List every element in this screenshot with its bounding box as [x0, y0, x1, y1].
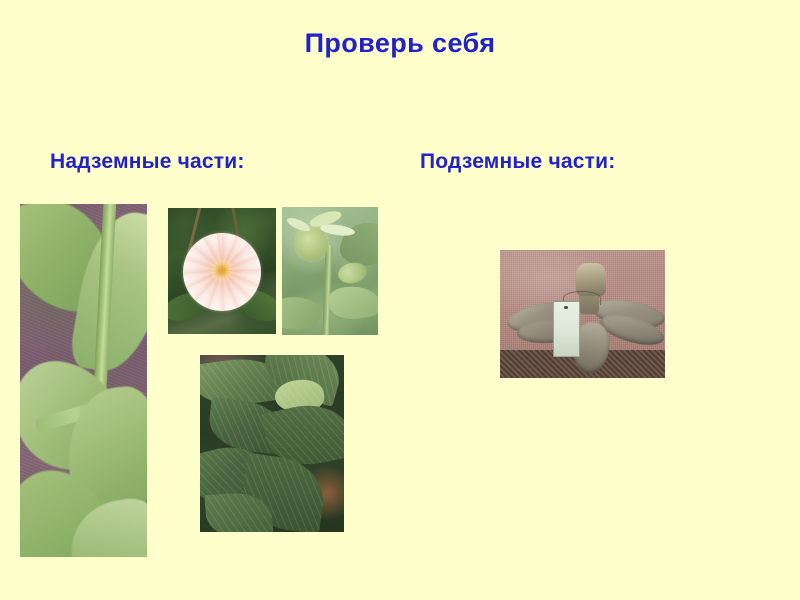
- photo-dahlia-flower: [168, 208, 276, 334]
- photo-dahlia-stem: [20, 204, 147, 557]
- flower-bud: [295, 227, 328, 260]
- column-heading-above-ground: Надземные части:: [50, 150, 245, 174]
- column-heading-below-ground: Подземные части:: [420, 150, 615, 174]
- slide-canvas: Проверь себя Надземные части: Подземные …: [0, 0, 800, 600]
- tag-hole: [564, 306, 567, 309]
- photo-dahlia-tuber: [500, 250, 665, 378]
- photo-dahlia-bud: [282, 207, 378, 335]
- flower-petals: [183, 233, 261, 311]
- photo-dahlia-leaves: [200, 355, 344, 532]
- page-title: Проверь себя: [0, 28, 800, 59]
- label-tag: [553, 301, 580, 357]
